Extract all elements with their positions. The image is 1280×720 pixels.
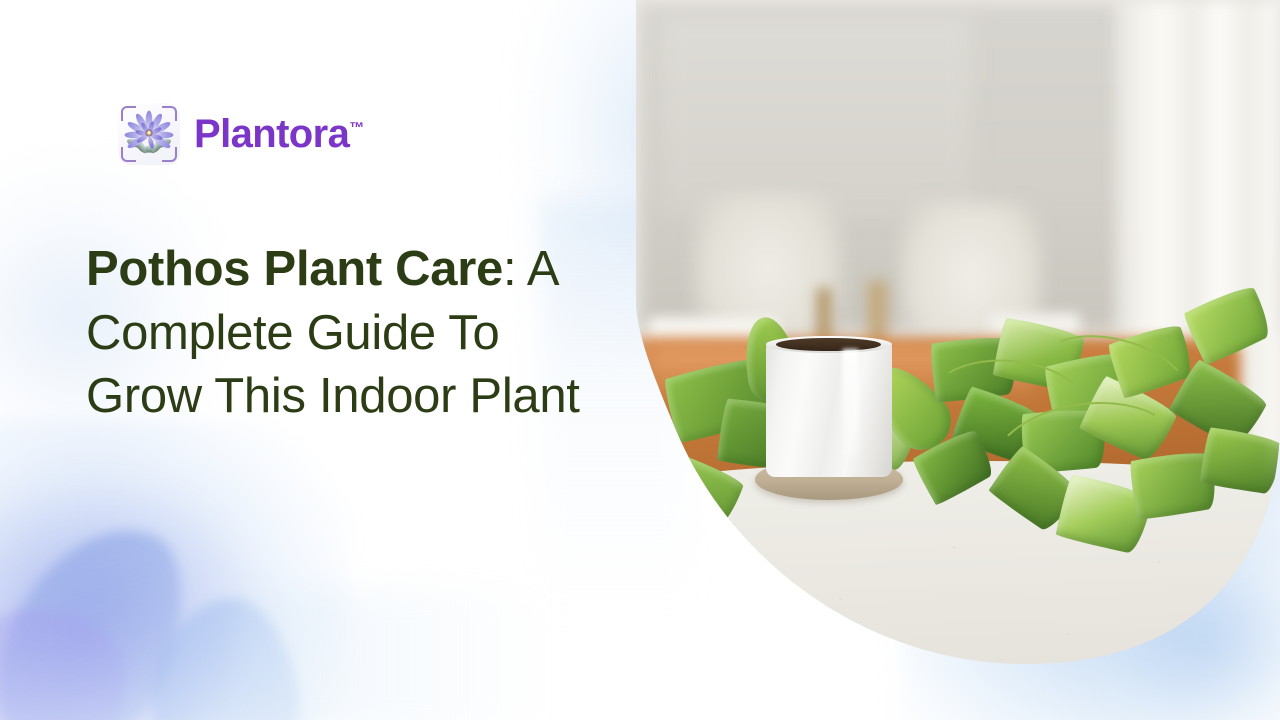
scan-bracket-top-right — [162, 106, 177, 121]
hero-photo-scene — [636, 0, 1280, 720]
brand-name: Plantora — [194, 112, 349, 156]
blog-hero-banner: Plantora™ Pothos Plant Care: A Complete … — [0, 0, 1280, 720]
photo-ceramic-pot — [766, 341, 892, 478]
scan-bracket-bottom-left — [121, 147, 136, 162]
scan-bracket-top-left — [121, 106, 136, 121]
photo-wall-panel — [662, 14, 971, 216]
page-title-emphasis: Pothos Plant Care — [86, 242, 503, 296]
scan-bracket-bottom-right — [162, 147, 177, 162]
hero-text-column: Plantora™ Pothos Plant Care: A Complete … — [0, 0, 640, 720]
hero-photo — [636, 0, 1280, 720]
brand-wordmark: Plantora™ — [194, 114, 364, 154]
trademark-symbol: ™ — [349, 120, 364, 137]
page-title: Pothos Plant Care: A Complete Guide To G… — [86, 238, 606, 429]
photo-pot-highlight — [842, 349, 859, 457]
lotus-flower-scan-icon — [118, 103, 180, 165]
brand-logo-lockup[interactable]: Plantora™ — [118, 103, 364, 165]
